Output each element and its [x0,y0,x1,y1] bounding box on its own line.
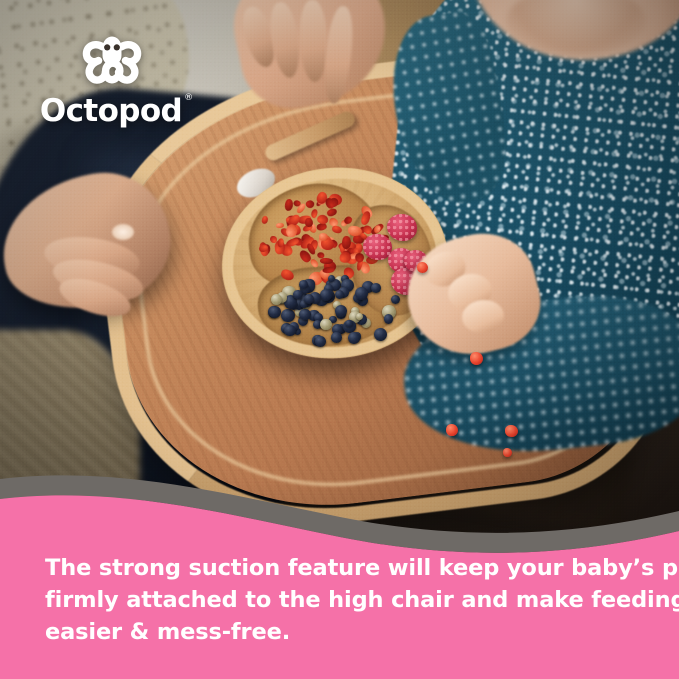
blueberry-piece [371,283,381,293]
product-lifestyle-image: Octopod ® The strong suction feature wil… [0,0,679,679]
octopus-icon [72,24,150,94]
caption-line-1: The strong suction feature will keep you… [45,552,645,584]
registered-trademark-icon: ® [184,94,193,103]
fruit-bit [470,352,483,365]
brand-logo: Octopod ® [26,24,196,127]
blueberry-piece [328,275,335,282]
fruit-bit [417,262,428,273]
blueberry-piece [384,314,394,324]
blueberry-piece [284,325,295,336]
strawberry-piece [286,224,297,237]
strawberry-piece [304,217,313,227]
fruit-bit [505,425,518,437]
strawberry-piece [277,238,283,247]
fruit-bit [446,424,458,436]
strawberry-piece [318,233,328,241]
blueberry-piece [355,287,368,300]
brand-wordmark: Octopod [40,96,182,127]
blueberry-piece [281,309,295,323]
fingernail-highlight [112,224,134,240]
strawberry-piece [320,258,333,264]
strawberry-piece [317,252,325,259]
caption-line-2: firmly attached to the high chair and ma… [45,584,645,616]
blueberry-piece [320,319,332,331]
octopus-eye-right [114,44,120,50]
blueberry-piece [320,289,332,301]
raspberry-piece [387,214,417,241]
blueberry-piece [331,332,342,343]
caption-text: The strong suction feature will keep you… [45,552,645,648]
caption-line-3: easier & mess-free. [45,616,645,648]
fruit-bit [503,448,512,457]
brand-wordmark-row: Octopod ® [40,96,182,127]
octopus-eye-left [104,44,110,50]
blueberry-piece [304,294,315,305]
